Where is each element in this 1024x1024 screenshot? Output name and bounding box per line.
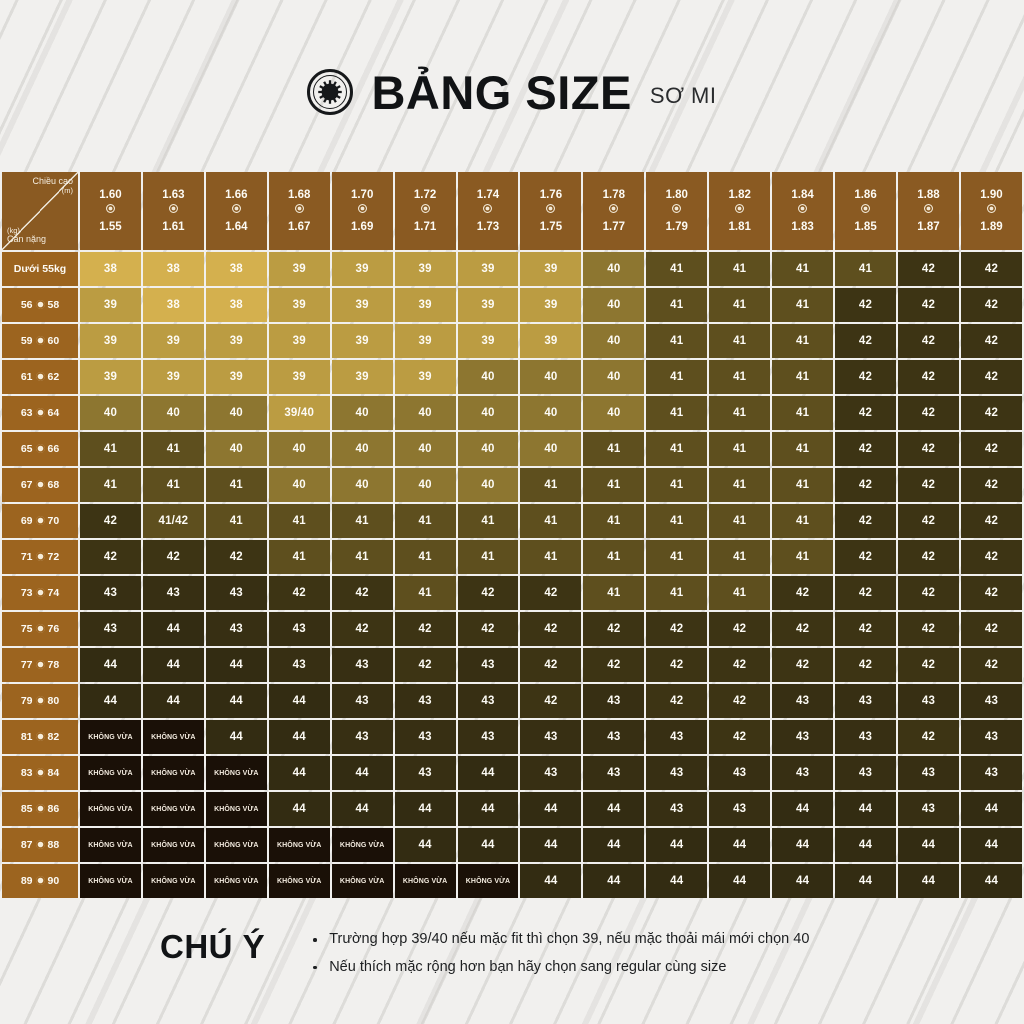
table-row: 636440404039/404040404040414141424242 xyxy=(2,396,1022,430)
size-cell: 43 xyxy=(898,756,959,790)
table-row: 7980444444444343434243424243434343 xyxy=(2,684,1022,718)
size-cell: 42 xyxy=(520,612,581,646)
size-cell-no-fit: KHÔNG VỪA xyxy=(206,792,267,826)
size-cell-no-fit: KHÔNG VỪA xyxy=(269,828,330,862)
range-dot-icon xyxy=(36,444,45,453)
height-range-upper: 1.66 xyxy=(206,188,267,202)
size-cell: 41 xyxy=(646,324,707,358)
size-cell: 42 xyxy=(709,684,770,718)
weight-axis-text: Cân nặng xyxy=(7,234,46,244)
size-cell-no-fit: KHÔNG VỪA xyxy=(458,864,519,898)
size-cell: 39 xyxy=(80,324,141,358)
size-cell: 43 xyxy=(458,720,519,754)
size-cell: 40 xyxy=(269,468,330,502)
height-range-lower: 1.79 xyxy=(646,220,707,234)
size-cell: 39 xyxy=(332,252,393,286)
size-cell: 44 xyxy=(898,864,959,898)
size-cell: 41 xyxy=(458,504,519,538)
size-cell: 41 xyxy=(709,360,770,394)
size-cell: 42 xyxy=(898,432,959,466)
weight-range-upper: 60 xyxy=(48,335,60,347)
size-cell-no-fit: KHÔNG VỪA xyxy=(80,756,141,790)
size-cell: 40 xyxy=(206,396,267,430)
weight-row-label: 8384 xyxy=(2,756,78,790)
size-cell: 38 xyxy=(206,288,267,322)
size-cell: 40 xyxy=(458,468,519,502)
size-cell: 42 xyxy=(206,540,267,574)
table-row: 7374434343424241424241414142424242 xyxy=(2,576,1022,610)
height-column-header: 1.861.85 xyxy=(835,172,896,250)
size-cell: 41 xyxy=(772,324,833,358)
page-subtitle: SƠ MI xyxy=(650,75,717,109)
height-range-upper: 1.80 xyxy=(646,188,707,202)
size-cell: 41 xyxy=(583,432,644,466)
size-cell: 39 xyxy=(80,360,141,394)
size-cell: 39 xyxy=(332,360,393,394)
size-cell: 40 xyxy=(332,396,393,430)
weight-range-lower: 79 xyxy=(21,695,33,707)
size-cell: 43 xyxy=(395,684,456,718)
size-cell: 43 xyxy=(583,720,644,754)
size-cell: 41 xyxy=(520,504,581,538)
range-dot-icon xyxy=(36,732,45,741)
size-cell: 44 xyxy=(646,864,707,898)
weight-row-label: 8182 xyxy=(2,720,78,754)
height-range-upper: 1.72 xyxy=(395,188,456,202)
size-cell: 41 xyxy=(709,576,770,610)
size-cell: 39 xyxy=(269,288,330,322)
size-cell: 41 xyxy=(646,432,707,466)
size-cell: 43 xyxy=(961,720,1022,754)
range-dot-icon xyxy=(609,204,618,213)
size-cell: 44 xyxy=(206,684,267,718)
size-cell: 44 xyxy=(961,864,1022,898)
size-cell: 44 xyxy=(206,648,267,682)
size-cell: 41 xyxy=(646,288,707,322)
size-cell: 42 xyxy=(395,648,456,682)
size-chart-page: BẢNG SIZE SƠ MI Chiều cao (m) (kg) Cân n… xyxy=(0,0,1024,1024)
weight-row-label: 6768 xyxy=(2,468,78,502)
size-cell: 43 xyxy=(772,756,833,790)
range-dot-icon xyxy=(36,552,45,561)
size-cell: 42 xyxy=(961,324,1022,358)
size-cell: 39 xyxy=(395,252,456,286)
table-body: Dưới 55kg3838383939393939404141414142425… xyxy=(2,252,1022,898)
size-cell: 39 xyxy=(458,324,519,358)
size-cell: 41 xyxy=(520,540,581,574)
weight-row-label: 8586 xyxy=(2,792,78,826)
height-column-header: 1.801.79 xyxy=(646,172,707,250)
size-cell: 43 xyxy=(80,576,141,610)
size-cell: 44 xyxy=(458,828,519,862)
range-dot-icon xyxy=(36,660,45,669)
weight-range-lower: 65 xyxy=(21,443,33,455)
height-column-header: 1.841.83 xyxy=(772,172,833,250)
weight-row-label: 6970 xyxy=(2,504,78,538)
weight-range-lower: 81 xyxy=(21,731,33,743)
height-range-lower: 1.87 xyxy=(898,220,959,234)
size-cell: 41 xyxy=(709,324,770,358)
size-cell: 43 xyxy=(835,684,896,718)
size-cell: 40 xyxy=(332,432,393,466)
size-cell: 41 xyxy=(709,432,770,466)
size-cell: 42 xyxy=(772,576,833,610)
size-cell: 44 xyxy=(961,792,1022,826)
size-cell: 43 xyxy=(898,684,959,718)
size-cell: 43 xyxy=(458,684,519,718)
range-dot-icon xyxy=(672,204,681,213)
size-cell: 44 xyxy=(80,684,141,718)
size-cell: 42 xyxy=(961,612,1022,646)
note-item: Trường hợp 39/40 nếu mặc fit thì chọn 39… xyxy=(313,926,809,954)
height-range-lower: 1.67 xyxy=(269,220,330,234)
size-cell-no-fit: KHÔNG VỪA xyxy=(206,828,267,862)
weight-axis-label: (kg) Cân nặng xyxy=(7,227,46,245)
weight-row-label: 5960 xyxy=(2,324,78,358)
size-cell: 39 xyxy=(520,324,581,358)
height-column-header: 1.881.87 xyxy=(898,172,959,250)
size-cell: 40 xyxy=(458,360,519,394)
height-range-lower: 1.61 xyxy=(143,220,204,234)
weight-range-upper: 62 xyxy=(48,371,60,383)
size-cell: 41 xyxy=(583,468,644,502)
range-dot-icon xyxy=(421,204,430,213)
height-range-upper: 1.84 xyxy=(772,188,833,202)
weight-range-upper: 78 xyxy=(48,659,60,671)
size-cell: 42 xyxy=(646,648,707,682)
weight-row-label: 8788 xyxy=(2,828,78,862)
size-cell: 42 xyxy=(835,648,896,682)
size-cell: 41 xyxy=(583,504,644,538)
size-cell: 42 xyxy=(898,612,959,646)
size-cell: 42 xyxy=(898,360,959,394)
size-cell-no-fit: KHÔNG VỪA xyxy=(332,828,393,862)
size-cell: 38 xyxy=(143,252,204,286)
size-cell: 43 xyxy=(709,792,770,826)
size-cell: 41 xyxy=(80,468,141,502)
size-cell: 40 xyxy=(332,468,393,502)
weight-range-upper: 58 xyxy=(48,299,60,311)
size-cell: 40 xyxy=(458,396,519,430)
size-cell: 40 xyxy=(583,360,644,394)
size-cell: 41 xyxy=(206,468,267,502)
size-cell-no-fit: KHÔNG VỪA xyxy=(395,864,456,898)
weight-range-upper: 84 xyxy=(48,767,60,779)
size-cell: 42 xyxy=(583,648,644,682)
size-cell: 40 xyxy=(583,252,644,286)
size-cell: 43 xyxy=(395,720,456,754)
size-cell: 42 xyxy=(898,576,959,610)
size-cell: 40 xyxy=(520,432,581,466)
range-dot-icon xyxy=(232,204,241,213)
table-row: Dưới 55kg383838393939393940414141414242 xyxy=(2,252,1022,286)
weight-range-upper: 70 xyxy=(48,515,60,527)
table-row: 7778444444434342434242424242424242 xyxy=(2,648,1022,682)
weight-range-upper: 76 xyxy=(48,623,60,635)
height-range-upper: 1.60 xyxy=(80,188,141,202)
table-row: 6566414140404040404041414141424242 xyxy=(2,432,1022,466)
size-cell-no-fit: KHÔNG VỪA xyxy=(143,828,204,862)
table-row: 8586KHÔNG VỪAKHÔNG VỪAKHÔNG VỪA444444444… xyxy=(2,792,1022,826)
size-table-container: Chiều cao (m) (kg) Cân nặng 1.601.551.63… xyxy=(0,170,1024,900)
size-cell: 39 xyxy=(332,288,393,322)
size-cell: 43 xyxy=(206,576,267,610)
size-cell: 44 xyxy=(835,864,896,898)
range-dot-icon xyxy=(36,876,45,885)
weight-range-upper: 88 xyxy=(48,839,60,851)
weight-range-lower: 69 xyxy=(21,515,33,527)
table-row: 7172424242414141414141414141424242 xyxy=(2,540,1022,574)
size-cell: 42 xyxy=(961,396,1022,430)
size-cell: 44 xyxy=(709,828,770,862)
height-range-lower: 1.75 xyxy=(520,220,581,234)
size-cell-no-fit: KHÔNG VỪA xyxy=(269,864,330,898)
size-cell: 41 xyxy=(772,504,833,538)
height-column-header: 1.741.73 xyxy=(458,172,519,250)
height-range-lower: 1.85 xyxy=(835,220,896,234)
size-cell: 44 xyxy=(772,828,833,862)
size-cell: 39 xyxy=(395,360,456,394)
height-column-header: 1.761.75 xyxy=(520,172,581,250)
height-range-lower: 1.55 xyxy=(80,220,141,234)
size-cell: 39 xyxy=(395,324,456,358)
weight-range-lower: 67 xyxy=(21,479,33,491)
size-cell: 41 xyxy=(772,252,833,286)
weight-range-lower: 75 xyxy=(21,623,33,635)
table-row: 69704241/4241414141414141414141424242 xyxy=(2,504,1022,538)
size-cell: 43 xyxy=(835,720,896,754)
size-cell: 42 xyxy=(961,360,1022,394)
height-range-lower: 1.89 xyxy=(961,220,1022,234)
height-range-lower: 1.83 xyxy=(772,220,833,234)
table-row: 8990KHÔNG VỪAKHÔNG VỪAKHÔNG VỪAKHÔNG VỪA… xyxy=(2,864,1022,898)
size-cell: 41/42 xyxy=(143,504,204,538)
size-cell: 44 xyxy=(772,792,833,826)
size-cell: 42 xyxy=(709,720,770,754)
size-cell: 43 xyxy=(80,612,141,646)
size-cell: 41 xyxy=(80,432,141,466)
size-cell: 41 xyxy=(835,252,896,286)
size-cell: 38 xyxy=(206,252,267,286)
height-range-upper: 1.86 xyxy=(835,188,896,202)
size-cell: 44 xyxy=(143,684,204,718)
size-cell: 39 xyxy=(143,324,204,358)
size-cell: 42 xyxy=(835,576,896,610)
weight-range-lower: 56 xyxy=(21,299,33,311)
size-cell: 42 xyxy=(961,540,1022,574)
weight-range-upper: 66 xyxy=(48,443,60,455)
table-row: 5658393838393939393940414141424242 xyxy=(2,288,1022,322)
size-cell: 40 xyxy=(143,396,204,430)
table-header-row: Chiều cao (m) (kg) Cân nặng 1.601.551.63… xyxy=(2,172,1022,250)
gear-icon xyxy=(307,69,353,115)
size-cell: 41 xyxy=(332,504,393,538)
size-cell: 42 xyxy=(143,540,204,574)
size-cell: 42 xyxy=(835,468,896,502)
size-cell: 44 xyxy=(646,828,707,862)
size-cell: 41 xyxy=(269,504,330,538)
size-cell: 41 xyxy=(772,288,833,322)
size-cell: 42 xyxy=(898,468,959,502)
height-column-header: 1.681.67 xyxy=(269,172,330,250)
weight-range-lower: 71 xyxy=(21,551,33,563)
range-dot-icon xyxy=(36,480,45,489)
size-cell: 39 xyxy=(269,324,330,358)
page-title: BẢNG SIZE xyxy=(371,69,631,116)
range-dot-icon xyxy=(735,204,744,213)
size-cell: 41 xyxy=(709,252,770,286)
note-list: Trường hợp 39/40 nếu mặc fit thì chọn 39… xyxy=(313,926,809,981)
weight-range-lower: 89 xyxy=(21,875,33,887)
size-cell: 44 xyxy=(395,828,456,862)
size-cell: 39 xyxy=(80,288,141,322)
range-dot-icon xyxy=(36,840,45,849)
size-cell-no-fit: KHÔNG VỪA xyxy=(80,864,141,898)
size-cell: 42 xyxy=(898,324,959,358)
size-cell: 41 xyxy=(395,504,456,538)
size-cell: 41 xyxy=(709,540,770,574)
size-cell: 43 xyxy=(772,720,833,754)
weight-row-label: 8990 xyxy=(2,864,78,898)
size-cell: 44 xyxy=(269,684,330,718)
weight-row-label: 7172 xyxy=(2,540,78,574)
height-column-header: 1.721.71 xyxy=(395,172,456,250)
size-cell: 39 xyxy=(520,252,581,286)
size-cell: 42 xyxy=(520,684,581,718)
size-cell: 43 xyxy=(646,720,707,754)
height-range-upper: 1.68 xyxy=(269,188,330,202)
height-range-lower: 1.69 xyxy=(332,220,393,234)
weight-range-upper: 90 xyxy=(48,875,60,887)
weight-range-upper: 72 xyxy=(48,551,60,563)
size-cell: 44 xyxy=(143,612,204,646)
size-cell: 41 xyxy=(143,432,204,466)
height-axis-text: Chiều cao xyxy=(32,176,73,186)
height-range-lower: 1.64 xyxy=(206,220,267,234)
height-axis-label: Chiều cao (m) xyxy=(32,177,73,195)
range-dot-icon xyxy=(36,624,45,633)
height-column-header: 1.901.89 xyxy=(961,172,1022,250)
size-cell: 40 xyxy=(395,432,456,466)
size-cell: 40 xyxy=(583,396,644,430)
size-cell: 42 xyxy=(332,612,393,646)
size-cell: 41 xyxy=(583,540,644,574)
size-cell-no-fit: KHÔNG VỪA xyxy=(143,792,204,826)
range-dot-icon xyxy=(924,204,933,213)
size-cell: 44 xyxy=(269,756,330,790)
range-dot-icon xyxy=(36,768,45,777)
size-cell: 42 xyxy=(583,612,644,646)
range-dot-icon xyxy=(36,372,45,381)
size-cell: 42 xyxy=(961,468,1022,502)
size-cell: 43 xyxy=(206,612,267,646)
size-cell: 41 xyxy=(646,396,707,430)
height-column-header: 1.661.64 xyxy=(206,172,267,250)
size-cell: 43 xyxy=(583,756,644,790)
weight-row-label: 7778 xyxy=(2,648,78,682)
size-cell: 42 xyxy=(458,576,519,610)
height-column-header: 1.631.61 xyxy=(143,172,204,250)
size-cell: 44 xyxy=(269,720,330,754)
size-cell: 40 xyxy=(269,432,330,466)
size-cell: 42 xyxy=(269,576,330,610)
size-cell: 42 xyxy=(646,684,707,718)
size-cell: 44 xyxy=(709,864,770,898)
size-cell: 44 xyxy=(143,648,204,682)
size-cell: 43 xyxy=(835,756,896,790)
range-dot-icon xyxy=(546,204,555,213)
weight-range-lower: 87 xyxy=(21,839,33,851)
size-cell: 42 xyxy=(332,576,393,610)
size-cell: 39 xyxy=(206,324,267,358)
size-cell: 43 xyxy=(143,576,204,610)
size-cell: 42 xyxy=(835,432,896,466)
weight-range-lower: 59 xyxy=(21,335,33,347)
size-cell: 41 xyxy=(458,540,519,574)
size-cell-no-fit: KHÔNG VỪA xyxy=(206,756,267,790)
range-dot-icon xyxy=(106,204,115,213)
weight-range-upper: 74 xyxy=(48,587,60,599)
weight-row-label: 7374 xyxy=(2,576,78,610)
size-cell: 44 xyxy=(458,756,519,790)
size-cell: 44 xyxy=(520,792,581,826)
size-cell: 39 xyxy=(520,288,581,322)
height-range-upper: 1.74 xyxy=(458,188,519,202)
range-dot-icon xyxy=(36,804,45,813)
size-cell: 44 xyxy=(520,828,581,862)
weight-row-label: 6162 xyxy=(2,360,78,394)
range-dot-icon xyxy=(358,204,367,213)
size-cell: 43 xyxy=(332,684,393,718)
range-dot-icon xyxy=(36,300,45,309)
weight-range-lower: 73 xyxy=(21,587,33,599)
size-cell: 39 xyxy=(269,252,330,286)
size-cell: 41 xyxy=(206,504,267,538)
range-dot-icon xyxy=(36,336,45,345)
size-cell: 42 xyxy=(80,540,141,574)
size-cell: 43 xyxy=(395,756,456,790)
size-cell: 41 xyxy=(772,360,833,394)
size-cell: 41 xyxy=(772,468,833,502)
size-cell: 40 xyxy=(583,324,644,358)
height-column-header: 1.821.81 xyxy=(709,172,770,250)
size-cell: 40 xyxy=(80,396,141,430)
size-cell: 40 xyxy=(520,396,581,430)
size-cell: 42 xyxy=(709,648,770,682)
size-cell: 42 xyxy=(898,288,959,322)
weight-row-label: 6566 xyxy=(2,432,78,466)
range-dot-icon xyxy=(36,408,45,417)
height-range-upper: 1.90 xyxy=(961,188,1022,202)
weight-range-upper: 64 xyxy=(48,407,60,419)
size-cell: 41 xyxy=(646,576,707,610)
weight-range-upper: 82 xyxy=(48,731,60,743)
size-cell: 43 xyxy=(646,756,707,790)
size-cell: 44 xyxy=(583,792,644,826)
size-cell: 41 xyxy=(772,540,833,574)
size-cell-no-fit: KHÔNG VỪA xyxy=(80,828,141,862)
range-dot-icon xyxy=(36,696,45,705)
table-row: 8384KHÔNG VỪAKHÔNG VỪAKHÔNG VỪA444443444… xyxy=(2,756,1022,790)
size-cell: 42 xyxy=(835,396,896,430)
size-cell: 43 xyxy=(520,720,581,754)
size-cell: 42 xyxy=(520,648,581,682)
size-cell: 39 xyxy=(206,360,267,394)
height-range-upper: 1.76 xyxy=(520,188,581,202)
table-row: 8182KHÔNG VỪAKHÔNG VỪA444443434343434342… xyxy=(2,720,1022,754)
size-cell: 42 xyxy=(898,720,959,754)
size-cell: 40 xyxy=(458,432,519,466)
